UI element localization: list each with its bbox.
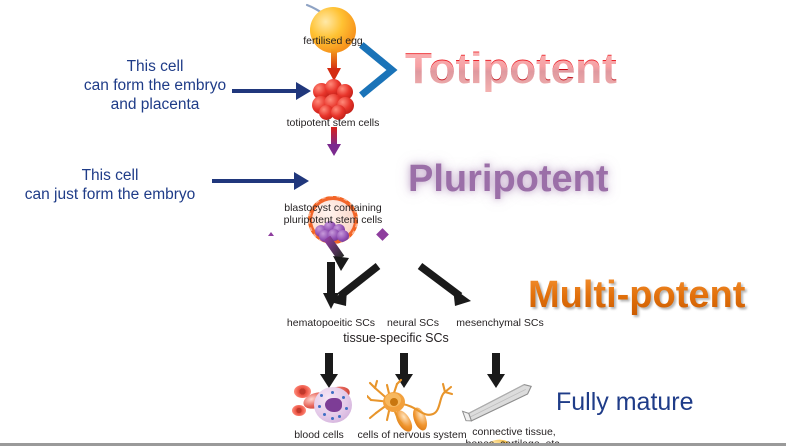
chevron-right-icon [358,42,404,103]
arrow-morula-to-blastocyst [326,127,342,162]
hematopoeitic-sc-label: hematopoeitic SCs [278,318,384,330]
neural-sc-label: neural SCs [372,318,454,330]
blood-cells-label: blood cells [281,430,357,442]
arrow-annotation-to-blastocyst [212,172,312,190]
stray-mark-left [268,232,274,236]
annotation-pluripotent-text: This cell can just form the embryo [10,166,210,204]
stage-pluripotent-label: Pluripotent [408,158,609,201]
arrow-tissue-hematopoeitic [320,262,384,315]
arrow-tissue-mesenchymal [412,262,482,315]
mesenchymal-sc-label: mesenchymal SCs [452,318,548,330]
arrow-annotation-to-morula [232,82,314,100]
totipotent-stem-cell-cluster [311,79,355,121]
stage-multipotent-label: Multi-potent [528,274,745,317]
connective-tissue-icon [455,382,545,424]
stray-mark-right [376,228,389,241]
diagram-canvas: fertilised egg totipotent stem cells Thi… [0,0,786,446]
annotation-totipotent-text: This cell can form the embryo and placen… [75,57,235,114]
stage-fully-mature-label: Fully mature [556,388,694,417]
neuron-icon [367,378,455,428]
nervous-cells-label: cells of nervous system [353,430,471,442]
stage-totipotent-label: Totipotent [405,44,617,94]
tissue-specific-scs-label: tissue-specific SCs [316,333,476,345]
blastocyst-label: blastocyst containing pluripotent stem c… [262,203,404,226]
connective-tissue-label: connective tissue, bones, cartilage, etc… [462,427,566,446]
blood-cells-icon [292,383,368,429]
